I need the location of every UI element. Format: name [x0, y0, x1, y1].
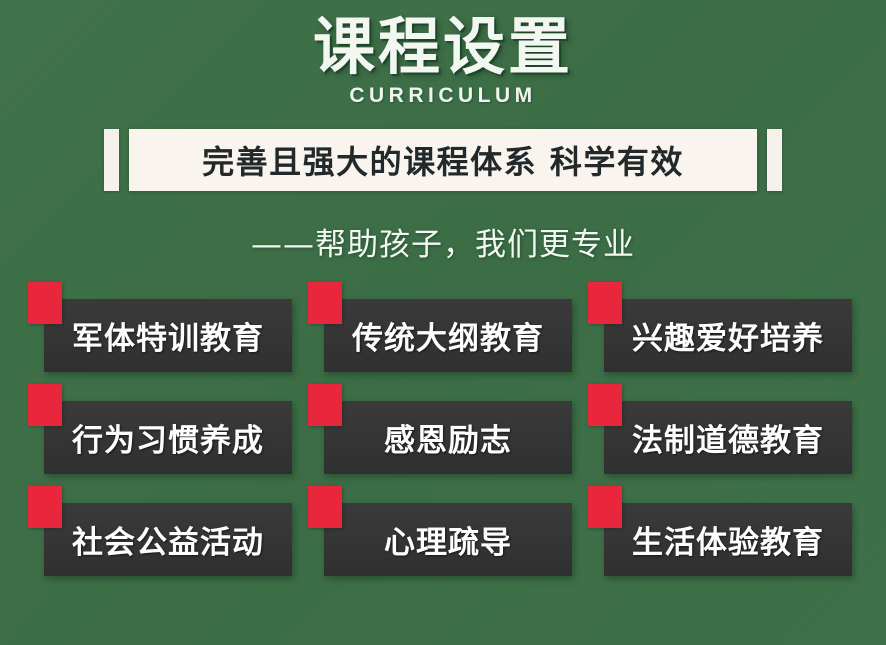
banner-right-accent-bar	[767, 129, 782, 191]
course-card-label: 感恩励志	[384, 415, 512, 460]
course-grid: 军体特训教育 传统大纲教育 兴趣爱好培养 行为习惯养成 感恩励志 法制道德教育 …	[0, 299, 886, 576]
page-title: 课程设置	[0, 14, 886, 80]
square-badge-icon	[588, 486, 622, 528]
course-card-label: 兴趣爱好培养	[632, 313, 824, 358]
course-card[interactable]: 心理疏导	[324, 503, 572, 576]
course-card-label: 生活体验教育	[632, 517, 824, 562]
course-card-label: 传统大纲教育	[352, 313, 544, 358]
square-badge-icon	[308, 282, 342, 324]
course-card-label: 社会公益活动	[72, 517, 264, 562]
square-badge-icon	[308, 486, 342, 528]
course-card[interactable]: 行为习惯养成	[44, 401, 292, 474]
square-badge-icon	[588, 282, 622, 324]
square-badge-icon	[28, 486, 62, 528]
course-card[interactable]: 军体特训教育	[44, 299, 292, 372]
highlight-banner: 完善且强大的课程体系 科学有效	[0, 129, 886, 191]
poster-header: 课程设置 CURRICULUM	[0, 0, 886, 108]
course-card-label: 军体特训教育	[72, 313, 264, 358]
course-card[interactable]: 法制道德教育	[604, 401, 852, 474]
course-card-label: 行为习惯养成	[72, 415, 264, 460]
banner-left-accent-bar	[104, 129, 119, 191]
course-card-label: 法制道德教育	[632, 415, 824, 460]
course-card[interactable]: 传统大纲教育	[324, 299, 572, 372]
tagline: ——帮助孩子，我们更专业	[0, 219, 886, 264]
banner-text: 完善且强大的课程体系 科学有效	[202, 137, 684, 183]
course-card[interactable]: 社会公益活动	[44, 503, 292, 576]
square-badge-icon	[588, 384, 622, 426]
course-card[interactable]: 兴趣爱好培养	[604, 299, 852, 372]
square-badge-icon	[28, 282, 62, 324]
course-card[interactable]: 生活体验教育	[604, 503, 852, 576]
square-badge-icon	[308, 384, 342, 426]
square-badge-icon	[28, 384, 62, 426]
banner-box: 完善且强大的课程体系 科学有效	[129, 129, 757, 191]
course-card[interactable]: 感恩励志	[324, 401, 572, 474]
page-subtitle-english: CURRICULUM	[0, 84, 886, 108]
course-card-label: 心理疏导	[384, 517, 512, 562]
curriculum-poster: 课程设置 CURRICULUM 完善且强大的课程体系 科学有效 ——帮助孩子，我…	[0, 0, 886, 645]
